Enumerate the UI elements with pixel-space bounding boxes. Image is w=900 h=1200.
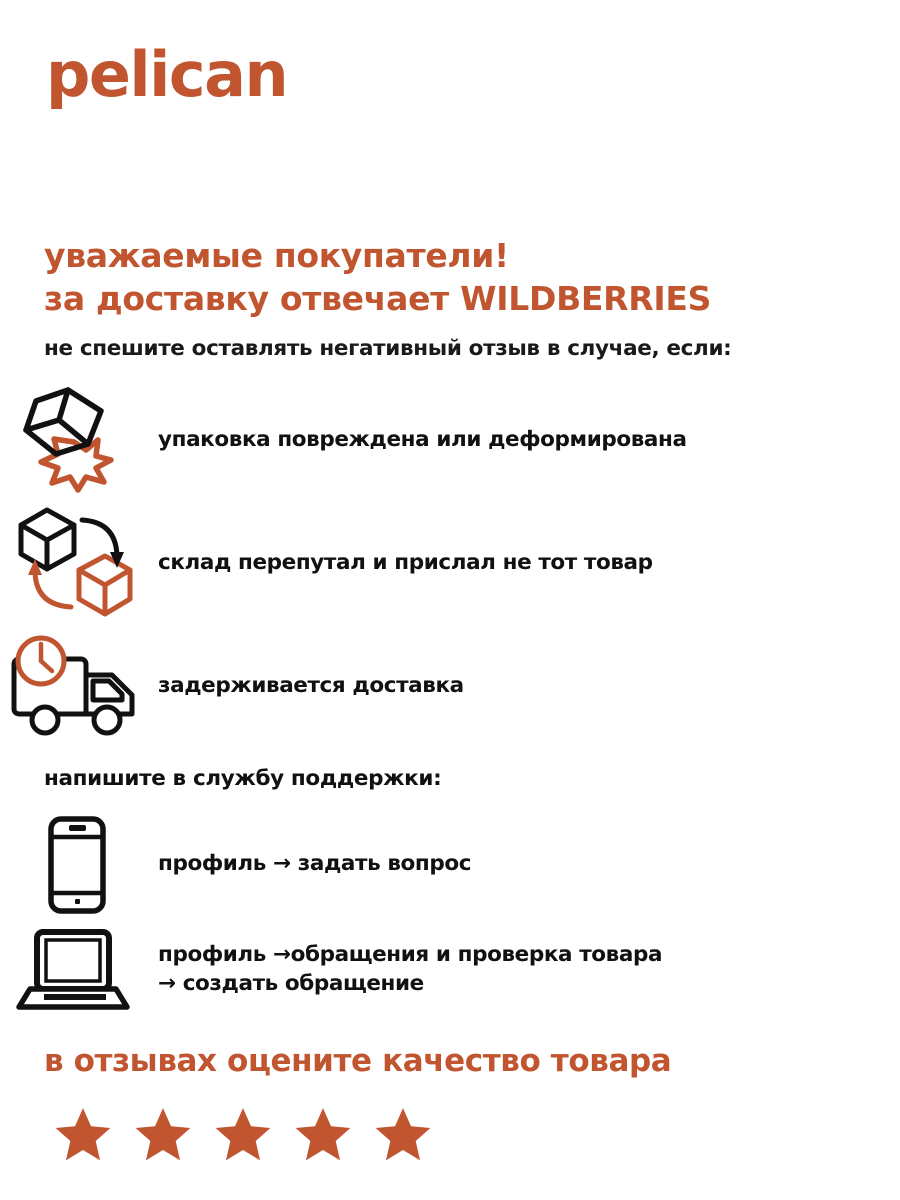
reason-row: задерживается доставка [0, 624, 900, 747]
support-label: профиль → задать вопрос [158, 850, 471, 878]
reasons-list: упаковка повреждена или деформирована [0, 378, 900, 747]
footer-heading: в отзывах оцените качество товара [44, 1043, 671, 1079]
support-list: профиль → задать вопрос профиль →обращен… [0, 812, 900, 1022]
reason-label: упаковка повреждена или деформирована [158, 427, 687, 452]
delivery-truck-clock-icon [0, 626, 140, 746]
brand-logo-text: pelican [46, 44, 287, 106]
headline-line-1: уважаемые покупатели! [44, 235, 864, 278]
reason-row: упаковка повреждена или деформирована [0, 378, 900, 501]
support-row: профиль → задать вопрос [0, 812, 900, 917]
brand-logo: pelican [46, 44, 287, 106]
star-icon[interactable] [292, 1104, 354, 1166]
star-icon[interactable] [212, 1104, 274, 1166]
damaged-box-icon [0, 380, 140, 500]
support-label: профиль →обращения и проверка товара → с… [158, 941, 662, 998]
reason-label: склад перепутал и прислал не тот товар [158, 550, 653, 575]
reason-row: склад перепутал и прислал не тот товар [0, 501, 900, 624]
support-row: профиль →обращения и проверка товара → с… [0, 917, 900, 1022]
promo-insert-page: pelican уважаемые покупатели! за доставк… [0, 0, 900, 1200]
star-icon[interactable] [132, 1104, 194, 1166]
wrong-item-exchange-icon [0, 503, 140, 623]
laptop-icon [0, 917, 140, 1022]
headline-block: уважаемые покупатели! за доставку отвеча… [44, 235, 864, 321]
rating-stars[interactable] [52, 1104, 434, 1166]
reason-label: задерживается доставка [158, 673, 464, 698]
star-icon[interactable] [372, 1104, 434, 1166]
support-heading: напишите в службу поддержки: [44, 766, 441, 791]
star-icon[interactable] [52, 1104, 114, 1166]
smartphone-icon [0, 812, 140, 917]
headline-line-2: за доставку отвечает WILDBERRIES [44, 278, 864, 321]
headline-subtitle: не спешите оставлять негативный отзыв в … [44, 336, 731, 361]
